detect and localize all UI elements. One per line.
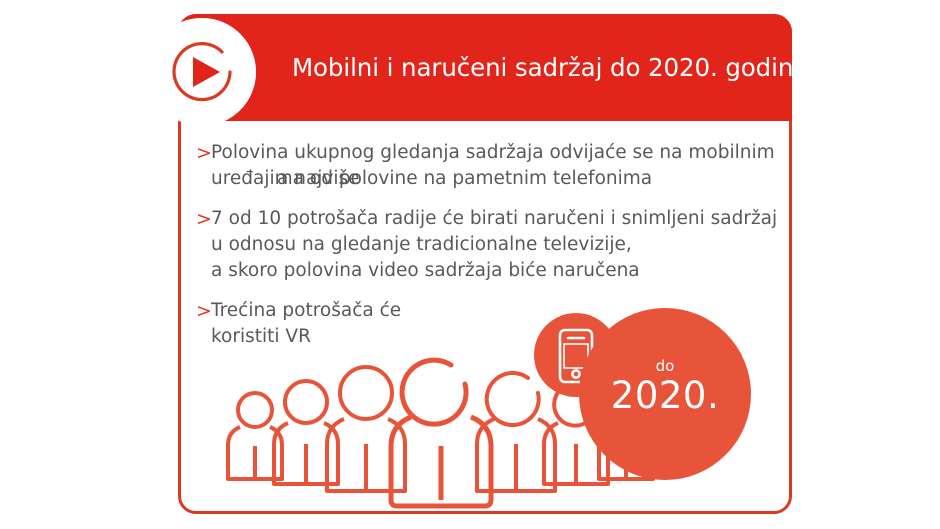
header-banner: Mobilni i naručeni sadržaj do 2020. godi…	[178, 14, 792, 121]
play-circle-icon	[148, 18, 256, 126]
artwork-area	[178, 280, 792, 514]
page-title: Mobilni i naručeni sadržaj do 2020. godi…	[292, 14, 768, 121]
bullet-text-2: 7 od 10 potrošača radije će birati naruč…	[211, 206, 777, 284]
overlap-tail-text: od polovine na pametnim telefonima	[304, 168, 652, 189]
overlap-group: uređajimaa najviše	[211, 166, 304, 192]
bullet-line-overlap: uređajimaa najviše od polovine na pametn…	[211, 166, 775, 192]
bullet-item-2: > 7 od 10 potrošača radije će birati nar…	[196, 206, 796, 284]
bullet-line: Polovina ukupnog gledanja sadržaja odvij…	[211, 140, 775, 166]
year-badge-circle	[579, 308, 751, 480]
chevron-right-icon: >	[196, 140, 211, 166]
infographic-canvas: Mobilni i naručeni sadržaj do 2020. godi…	[0, 0, 940, 529]
bullet-line: u odnosu na gledanje tradicionalne telev…	[211, 232, 777, 258]
bullet-line: 7 od 10 potrošača radije će birati naruč…	[211, 206, 777, 232]
bullet-item-1: > Polovina ukupnog gledanja sadržaja odv…	[196, 140, 796, 192]
bullet-text-1: Polovina ukupnog gledanja sadržaja odvij…	[211, 140, 775, 192]
chevron-right-icon: >	[196, 206, 211, 232]
